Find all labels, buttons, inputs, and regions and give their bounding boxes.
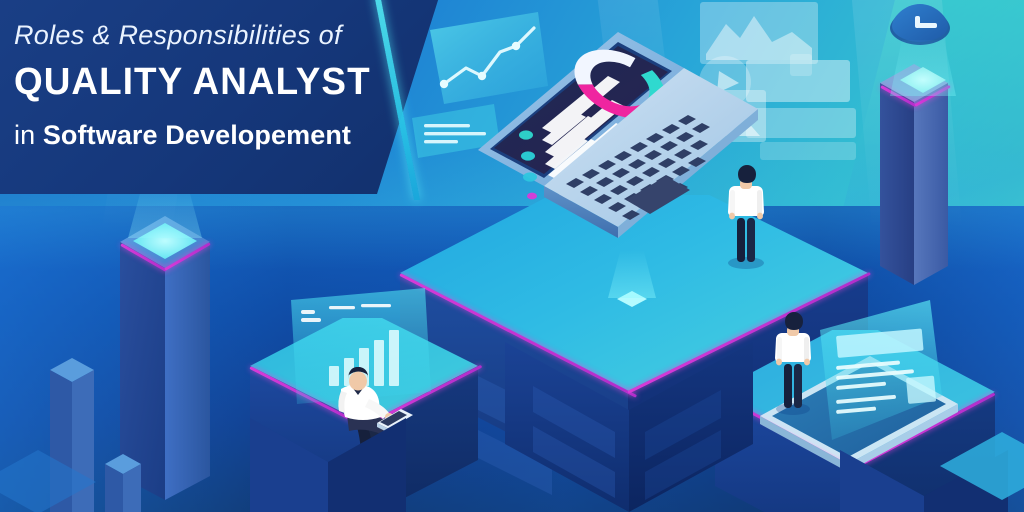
title-line-3-lead: in — [14, 120, 43, 150]
standing-person-laptop-platform — [722, 160, 770, 270]
bottom-left-slab — [0, 440, 100, 512]
foreground-column-center — [505, 282, 775, 512]
pillar-small-left-b — [105, 450, 165, 512]
title-text-block: Roles & Responsibilities of QUALITY ANAL… — [14, 20, 434, 151]
foreground-column-left — [250, 400, 420, 512]
page-title: QUALITY ANALYST — [14, 59, 421, 107]
bottom-right-slab — [940, 420, 1024, 512]
standing-person-phone-platform — [770, 308, 816, 416]
infographic-banner: Roles & Responsibilities of QUALITY ANAL… — [0, 0, 1024, 512]
title-line-3-bold: Software Developement — [43, 120, 351, 150]
small-square-card — [790, 54, 812, 76]
text-block-card — [760, 142, 856, 160]
title-line-3: in Software Developement — [14, 119, 434, 151]
title-line-1: Roles & Responsibilities of — [14, 20, 434, 51]
